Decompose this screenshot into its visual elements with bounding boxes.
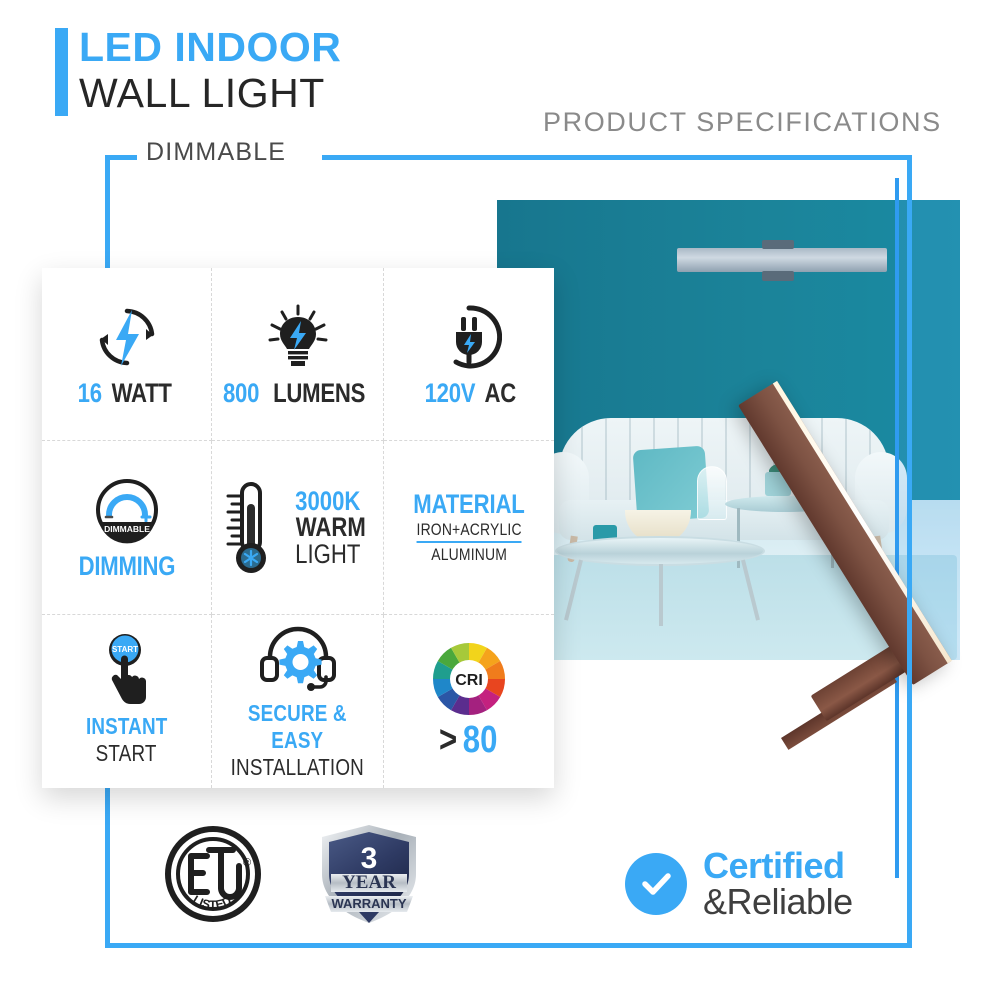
voltage-unit: AC — [484, 379, 515, 407]
wall-light-fixture — [677, 248, 887, 272]
title-accent-bar — [55, 28, 68, 116]
temperature-block: 3000K WARM LIGHT — [222, 474, 373, 580]
spec-cell-lumens: 800 LUMENS — [212, 268, 384, 441]
dimmer-dial-icon: DIMMABLE — [92, 474, 162, 546]
spec-label-wattage: 16WATT — [75, 379, 178, 407]
spec-cell-wattage: 16WATT — [42, 268, 212, 441]
material-line-1: IRON+ACRYLIC — [416, 520, 521, 543]
spec-cell-voltage: 120V AC — [384, 268, 554, 441]
warranty-years: 3 — [361, 842, 378, 875]
warranty-badge: 3 YEAR WARRANTY — [315, 822, 423, 926]
certified-text: Certified &Reliable — [703, 848, 853, 920]
fixture-mount-bottom — [762, 271, 794, 281]
plug-icon — [436, 301, 502, 373]
spec-heading: PRODUCT SPECIFICATIONS — [543, 107, 942, 138]
dimming-label: DIMMING — [78, 552, 175, 580]
thermometer-icon — [222, 474, 280, 580]
warranty-label: WARRANTY — [331, 896, 406, 911]
start-button-label: START — [112, 645, 138, 654]
voltage-value: 120V — [424, 379, 475, 407]
warranty-unit: YEAR — [342, 872, 396, 893]
lumens-unit: LUMENS — [274, 379, 366, 407]
title-line-2: WALL LIGHT — [79, 70, 325, 116]
title-line-1: LED INDOOR — [79, 24, 341, 70]
cri-wheel-label: CRI — [455, 672, 483, 689]
etl-listed-badge: ® LISTED — [165, 826, 261, 922]
spec-cell-material: MATERIAL IRON+ACRYLIC ALUMINUM — [384, 441, 554, 614]
etl-registered-mark: ® — [243, 857, 251, 869]
headset-gear-icon — [256, 622, 340, 694]
material-block: MATERIAL IRON+ACRYLIC ALUMINUM — [401, 489, 537, 565]
frame-border-top-left — [105, 155, 137, 160]
color-temp-word2: LIGHT — [295, 541, 360, 567]
wattage-unit: WATT — [111, 379, 171, 407]
certified-reliable-block: Certified &Reliable — [625, 848, 853, 920]
frame-border-bottom — [105, 943, 912, 948]
material-line-2: ALUMINUM — [431, 545, 507, 565]
temperature-text: 3000K WARM LIGHT — [288, 488, 373, 567]
instant-start-line-1: INSTANT — [86, 713, 167, 740]
check-circle-icon — [625, 853, 687, 915]
spec-label-lumens: 800 LUMENS — [219, 379, 375, 407]
frame-border-top-right — [322, 155, 912, 160]
product-hero — [600, 450, 1000, 850]
wattage-value: 16 — [78, 379, 102, 407]
color-temp-word1: WARM — [295, 514, 365, 540]
specification-grid: 16WATT — [42, 268, 554, 788]
cri-color-wheel-icon: CRI — [430, 643, 508, 715]
color-temp-value: 3000K — [295, 488, 360, 514]
cri-prefix: > — [439, 721, 457, 759]
lumens-value: 800 — [223, 379, 259, 407]
certified-line-1: Certified — [703, 845, 845, 886]
instant-start-line-2: START — [96, 740, 157, 767]
dimmable-icon-label: DIMMABLE — [104, 524, 150, 534]
power-refresh-icon — [94, 301, 160, 373]
spec-cell-instant-start: START INSTANT START — [42, 615, 212, 788]
hand-press-start-icon: START — [95, 635, 159, 707]
spec-label-dimming: DIMMING — [68, 552, 186, 580]
spec-label-installation: SECURE & EASY INSTALLATION — [216, 700, 379, 781]
specification-card: 16WATT — [42, 268, 554, 788]
spec-cell-dimming: DIMMABLE DIMMING — [42, 441, 212, 614]
spec-label-voltage: 120V AC — [419, 379, 519, 407]
installation-line-2: INSTALLATION — [231, 754, 364, 781]
fixture-mount-top — [762, 240, 794, 249]
infographic-canvas: LED INDOOR WALL LIGHT PRODUCT SPECIFICAT… — [0, 0, 1000, 1000]
spec-label-instant-start: INSTANT START — [77, 713, 176, 767]
spec-label-cri: >80 — [437, 721, 501, 759]
installation-line-1: SECURE & EASY — [231, 700, 364, 754]
etl-sub-label: LISTED — [190, 893, 234, 912]
lightbulb-icon — [265, 301, 331, 373]
cri-value: 80 — [463, 721, 498, 759]
material-title: MATERIAL — [413, 489, 524, 520]
frame-border-right — [907, 155, 912, 948]
spec-cell-color-temperature: 3000K WARM LIGHT — [212, 441, 384, 614]
frame-label-dimmable: DIMMABLE — [146, 138, 286, 167]
certified-line-2: &Reliable — [703, 881, 853, 922]
spec-cell-installation: SECURE & EASY INSTALLATION — [212, 615, 384, 788]
spec-cell-cri: CRI >80 — [384, 615, 554, 788]
svg-text:LISTED: LISTED — [190, 893, 234, 912]
